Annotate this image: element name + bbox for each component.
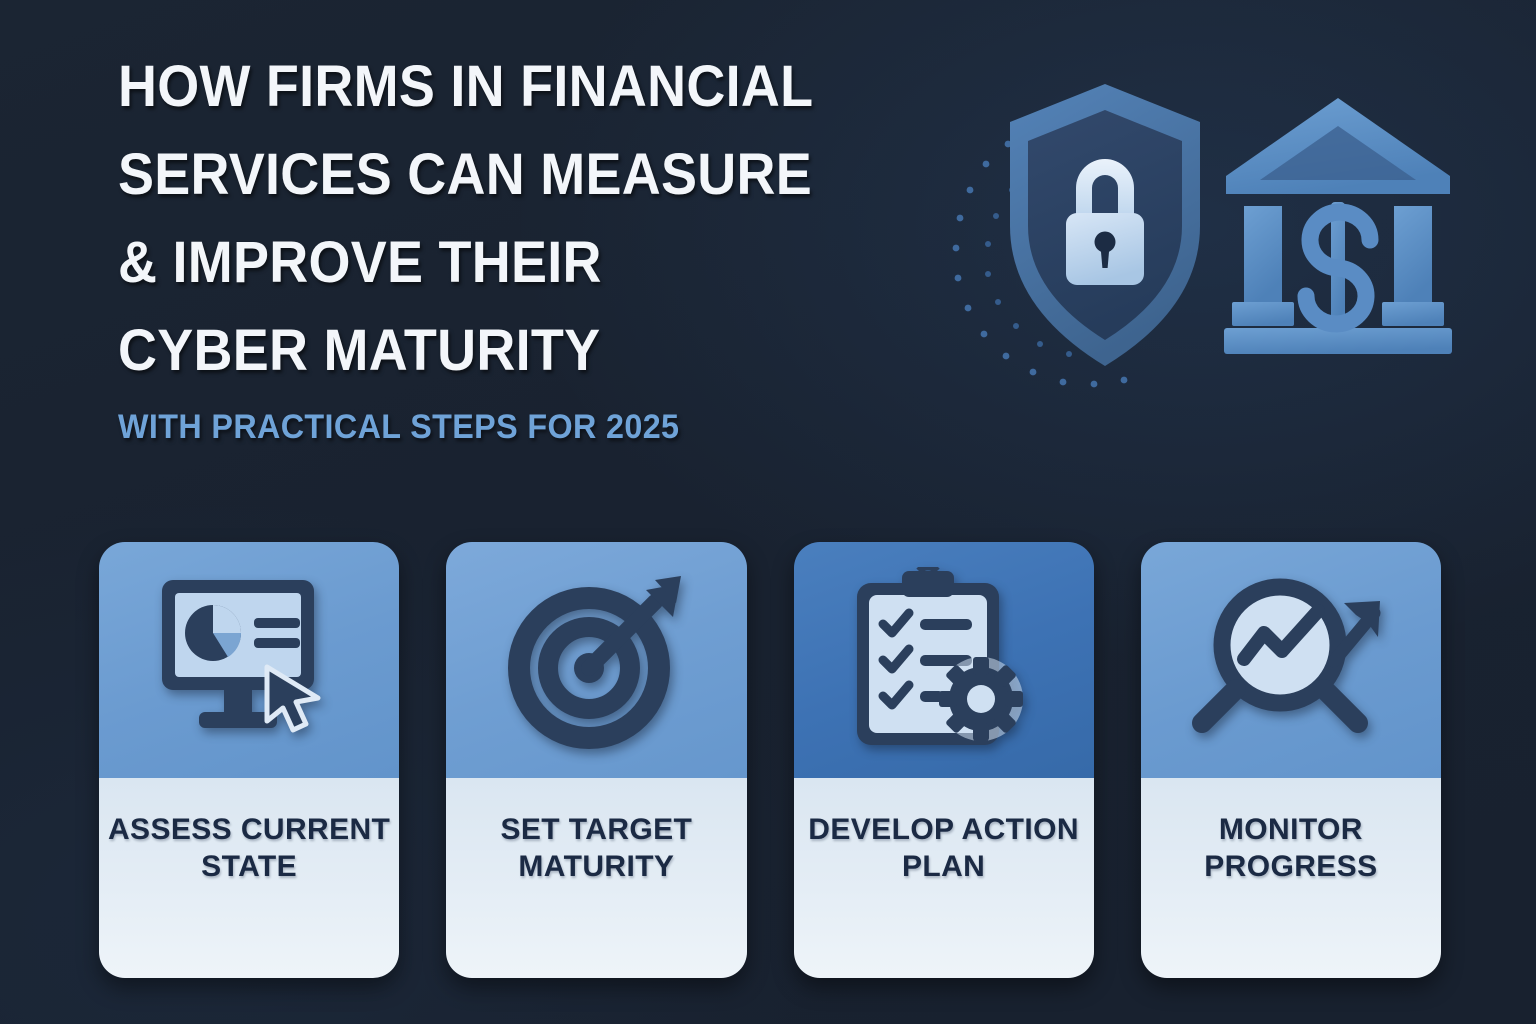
- step-card-set-target-maturity[interactable]: SET TARGET MATURITY: [446, 542, 746, 978]
- title-line-4: CYBER MATURITY: [118, 322, 918, 380]
- clipboard-checklist-gear-icon: [849, 567, 1039, 753]
- monitor-chart-cursor-icon: [146, 574, 352, 746]
- steps-row: ASSESS CURRENT STATE: [99, 542, 1441, 978]
- step-card-icon-area: [99, 542, 399, 778]
- step-card-label-area: MONITOR PROGRESS: [1141, 778, 1441, 978]
- title-line-3: & IMPROVE THEIR: [118, 234, 918, 292]
- step-card-label-area: ASSESS CURRENT STATE: [99, 778, 399, 978]
- step-card-develop-action-plan[interactable]: DEVELOP ACTION PLAN: [794, 542, 1094, 978]
- step-card-assess-current-state[interactable]: ASSESS CURRENT STATE: [99, 542, 399, 978]
- target-arrow-icon: [503, 570, 689, 750]
- step-card-icon-area: [794, 542, 1094, 778]
- hero-icon-cluster: [930, 62, 1490, 462]
- shield-lock-icon: [990, 76, 1220, 376]
- page-title: HOW FIRMS IN FINANCIAL SERVICES CAN MEAS…: [118, 58, 978, 380]
- step-card-label: SET TARGET MATURITY: [446, 812, 746, 885]
- step-card-label: MONITOR PROGRESS: [1141, 812, 1441, 885]
- step-card-label: DEVELOP ACTION PLAN: [794, 812, 1094, 885]
- step-card-label-area: SET TARGET MATURITY: [446, 778, 746, 978]
- title-line-2: SERVICES CAN MEASURE: [118, 146, 918, 204]
- title-line-1: HOW FIRMS IN FINANCIAL: [118, 58, 918, 116]
- infographic-canvas: HOW FIRMS IN FINANCIAL SERVICES CAN MEAS…: [0, 0, 1536, 1024]
- step-card-icon-area: [1141, 542, 1441, 778]
- magnifier-trendline-arrow-icon: [1188, 571, 1394, 749]
- headline-block: HOW FIRMS IN FINANCIAL SERVICES CAN MEAS…: [118, 58, 978, 444]
- page-subtitle: WITH PRACTICAL STEPS FOR 2025: [118, 410, 935, 444]
- step-card-monitor-progress[interactable]: MONITOR PROGRESS: [1141, 542, 1441, 978]
- step-card-icon-area: [446, 542, 746, 778]
- step-card-label-area: DEVELOP ACTION PLAN: [794, 778, 1094, 978]
- step-card-label: ASSESS CURRENT STATE: [99, 812, 399, 885]
- bank-dollar-icon: [1218, 90, 1458, 360]
